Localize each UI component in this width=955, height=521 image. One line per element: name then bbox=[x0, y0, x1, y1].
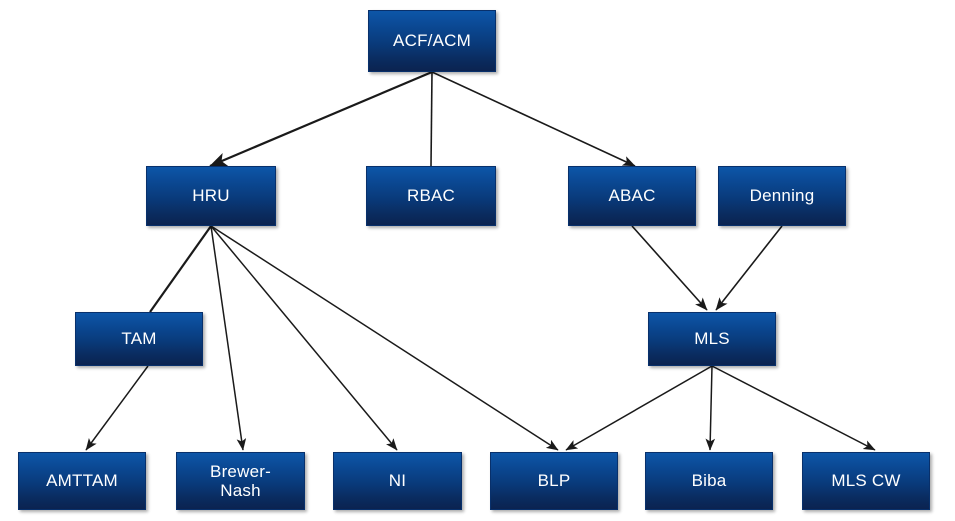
edge-acf-acm-to-rbac bbox=[431, 72, 432, 166]
edge-abac-to-mls bbox=[632, 226, 707, 310]
node-rbac[interactable]: RBAC bbox=[366, 166, 496, 226]
node-mls[interactable]: MLS bbox=[648, 312, 776, 366]
node-label-brewer: Brewer- Nash bbox=[206, 462, 275, 500]
node-label-denning: Denning bbox=[746, 186, 819, 205]
edge-mls-to-mls-cw bbox=[712, 366, 875, 450]
node-label-amttam: AMTTAM bbox=[42, 471, 122, 490]
node-label-tam: TAM bbox=[117, 329, 160, 348]
node-denning[interactable]: Denning bbox=[718, 166, 846, 226]
node-blp[interactable]: BLP bbox=[490, 452, 618, 510]
node-label-mls: MLS bbox=[690, 329, 734, 348]
node-mlscw[interactable]: MLS CW bbox=[802, 452, 930, 510]
edge-acf-acm-to-abac bbox=[432, 72, 635, 166]
node-label-rbac: RBAC bbox=[403, 186, 459, 205]
diagram-canvas: ACF/ACMHRURBACABACDenningTAMMLSAMTTAMBre… bbox=[0, 0, 955, 521]
node-abac[interactable]: ABAC bbox=[568, 166, 696, 226]
node-amttam[interactable]: AMTTAM bbox=[18, 452, 146, 510]
node-label-abac: ABAC bbox=[604, 186, 659, 205]
node-label-acfacm: ACF/ACM bbox=[389, 31, 475, 50]
node-label-hru: HRU bbox=[188, 186, 233, 205]
edges-group bbox=[86, 72, 875, 450]
node-hru[interactable]: HRU bbox=[146, 166, 276, 226]
edge-hru-to-tam bbox=[150, 226, 211, 312]
node-brewer[interactable]: Brewer- Nash bbox=[176, 452, 305, 510]
node-label-mlscw: MLS CW bbox=[827, 471, 904, 490]
node-label-biba: Biba bbox=[688, 471, 731, 490]
edge-denning-to-mls bbox=[716, 226, 782, 310]
node-ni[interactable]: NI bbox=[333, 452, 462, 510]
node-tam[interactable]: TAM bbox=[75, 312, 203, 366]
edge-mls-to-blp bbox=[566, 366, 712, 450]
node-label-blp: BLP bbox=[534, 471, 575, 490]
node-label-ni: NI bbox=[385, 471, 410, 490]
edge-hru-to-ni bbox=[211, 226, 397, 450]
edge-hru-to-brewer-nash bbox=[211, 226, 243, 450]
node-acfacm[interactable]: ACF/ACM bbox=[368, 10, 496, 72]
edge-hru-to-blp bbox=[211, 226, 558, 450]
edge-layer bbox=[0, 0, 955, 521]
edge-acf-acm-to-hru bbox=[210, 72, 432, 166]
edge-hru-to-amttam bbox=[86, 366, 148, 450]
edge-mls-to-biba bbox=[710, 366, 712, 450]
node-biba[interactable]: Biba bbox=[645, 452, 773, 510]
